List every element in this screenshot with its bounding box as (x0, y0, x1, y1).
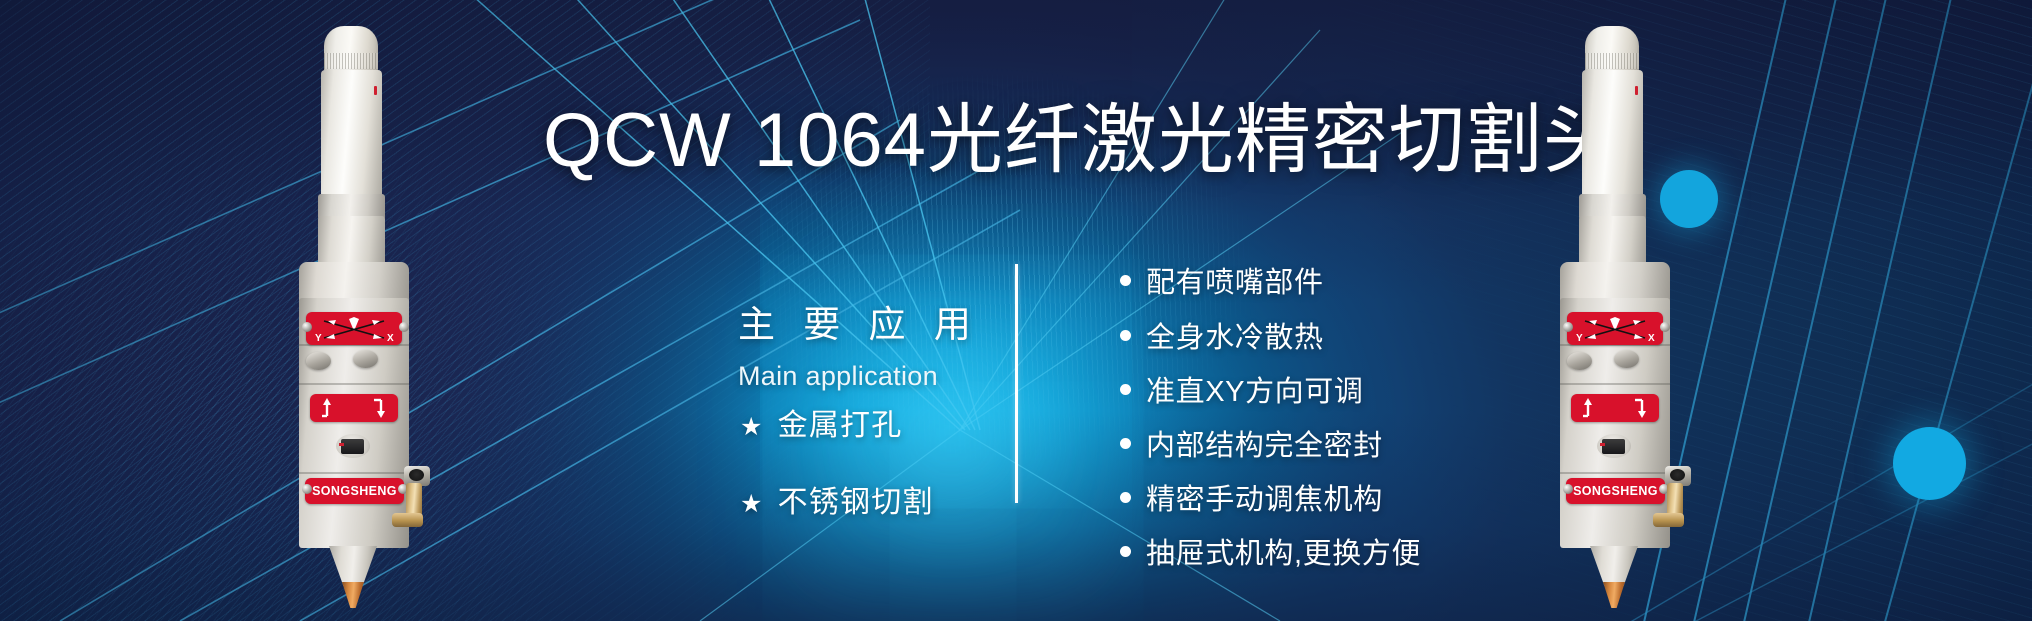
main-application-heading-cn: 主 要 应 用 (738, 294, 980, 348)
head-screw (1660, 322, 1670, 332)
feature-item-label: 全身水冷散热 (1146, 314, 1324, 356)
xy-axis-icon: Y X (1567, 312, 1663, 345)
application-item-label: 金属打孔 (778, 400, 903, 444)
head-barrel (1579, 216, 1646, 268)
svg-text:X: X (387, 333, 394, 344)
list-item: ★ 金属打孔 (740, 400, 934, 444)
head-seam (299, 383, 409, 385)
inlet-outlet-arrow-icon (1571, 394, 1659, 422)
head-connector-indicator (339, 443, 344, 446)
head-upper-tube (321, 70, 382, 198)
feature-item-label: 配有喷嘴部件 (1146, 259, 1324, 301)
head-knurled-ring (1585, 53, 1639, 69)
head-screw (302, 484, 312, 494)
laser-cutting-head-left: Y X SONGSHENG (276, 26, 428, 601)
head-upper-tube (1582, 70, 1643, 198)
xy-alignment-label: Y X (306, 312, 402, 345)
head-adjust-knob (1614, 350, 1639, 368)
head-red-marker (1635, 86, 1638, 95)
flow-direction-label (310, 394, 398, 422)
head-nozzle-cone (1590, 546, 1638, 586)
brand-label: SONGSHENG (1566, 478, 1665, 504)
decorative-circle-lower (1893, 427, 1966, 500)
laser-cutting-head-right: Y X SONGSHENG (1537, 26, 1689, 601)
list-item: 全身水冷散热 (1120, 313, 1421, 357)
xy-alignment-label: Y X (1567, 312, 1663, 345)
head-adjust-knob (1567, 352, 1592, 370)
head-connector-block (341, 439, 364, 454)
product-banner: QCW 1064光纤激光精密切割头 主 要 应 用 Main applicati… (0, 0, 2032, 621)
bullet-icon (1120, 275, 1131, 286)
head-barrel (318, 216, 385, 268)
main-application-block: 主 要 应 用 Main application (738, 294, 980, 392)
brand-label: SONGSHENG (305, 478, 404, 504)
svg-text:Y: Y (1576, 333, 1583, 344)
head-connector-indicator (1600, 443, 1605, 446)
feature-item-label: 准直XY方向可调 (1146, 368, 1364, 410)
bullet-icon (1120, 330, 1131, 341)
feature-item-label: 精密手动调焦机构 (1146, 476, 1383, 518)
flow-direction-label (1571, 394, 1659, 422)
list-item: 准直XY方向可调 (1120, 367, 1421, 411)
air-fitting-port (1670, 469, 1685, 481)
feature-list: 配有喷嘴部件 全身水冷散热 准直XY方向可调 内部结构完全密封 精密手动调焦机构… (1120, 258, 1421, 573)
inlet-outlet-arrow-icon (310, 394, 398, 422)
application-list: ★ 金属打孔 ★ 不锈钢切割 (740, 400, 934, 554)
head-screw (1563, 322, 1573, 332)
page-title: QCW 1064光纤激光精密切割头 (543, 103, 1620, 179)
list-item: ★ 不锈钢切割 (740, 477, 934, 521)
star-icon: ★ (740, 415, 764, 440)
bullet-icon (1120, 384, 1131, 395)
list-item: 配有喷嘴部件 (1120, 258, 1421, 302)
brand-label-text: SONGSHENG (1573, 484, 1658, 498)
feature-item-label: 抽屉式机构,更换方便 (1146, 530, 1421, 572)
air-fitting-port (409, 469, 424, 481)
head-connector-block (1602, 439, 1625, 454)
list-item: 抽屉式机构,更换方便 (1120, 529, 1421, 573)
bullet-icon (1120, 492, 1131, 503)
feature-item-label: 内部结构完全密封 (1146, 422, 1383, 464)
air-fitting-elbow (1653, 513, 1684, 527)
application-item-label: 不锈钢切割 (778, 477, 934, 521)
bullet-icon (1120, 438, 1131, 449)
bullet-icon (1120, 546, 1131, 557)
xy-axis-icon: Y X (306, 312, 402, 345)
head-seam (1560, 383, 1670, 385)
main-application-heading-en: Main application (738, 361, 980, 392)
head-knurled-ring (324, 53, 378, 69)
head-screw (302, 322, 312, 332)
head-screw (1563, 484, 1573, 494)
air-fitting-elbow (392, 513, 423, 527)
head-screw (399, 322, 409, 332)
head-seam (299, 472, 409, 474)
svg-text:X: X (1648, 333, 1655, 344)
star-icon: ★ (740, 492, 764, 517)
head-red-marker (374, 86, 377, 95)
brand-label-text: SONGSHENG (312, 484, 397, 498)
head-seam (1560, 472, 1670, 474)
head-adjust-knob (306, 352, 331, 370)
vertical-divider (1015, 264, 1018, 503)
head-adjust-knob (353, 350, 378, 368)
svg-text:Y: Y (315, 333, 322, 344)
list-item: 精密手动调焦机构 (1120, 475, 1421, 519)
list-item: 内部结构完全密封 (1120, 421, 1421, 465)
head-nozzle-cone (329, 546, 377, 586)
